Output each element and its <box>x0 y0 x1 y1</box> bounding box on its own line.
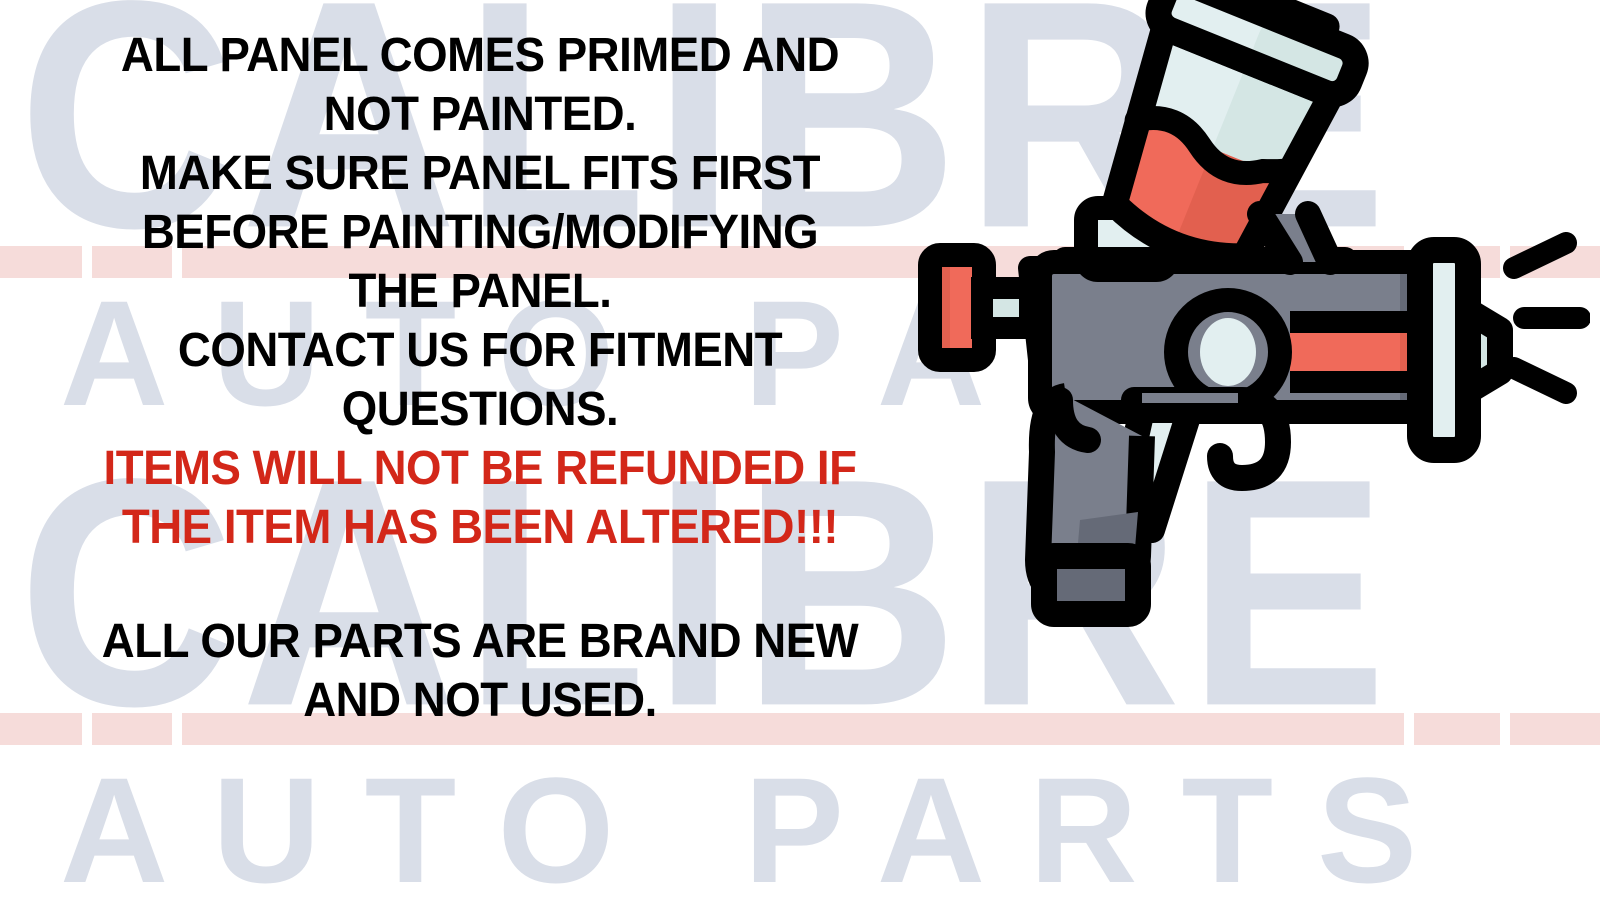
notice-warning-line-1: ITEMS WILL NOT BE REFUNDED IF <box>81 439 879 498</box>
notice-line-gap <box>81 557 879 612</box>
paint-spray-gun-icon <box>890 0 1590 660</box>
notice-warning-line-2: THE ITEM HAS BEEN ALTERED!!! <box>81 498 879 557</box>
hose-connector-icon <box>1044 556 1138 614</box>
notice-line-8: ALL OUR PARTS ARE BRAND NEW <box>81 612 879 671</box>
notice-text-block: ALL PANEL COMES PRIMED AND NOT PAINTED. … <box>81 26 879 730</box>
notice-line-7: QUESTIONS. <box>81 380 879 439</box>
spray-lines-icon <box>1514 243 1580 393</box>
notice-line-9: AND NOT USED. <box>81 671 879 730</box>
notice-line-6: CONTACT US FOR FITMENT <box>81 321 879 380</box>
notice-line-1: ALL PANEL COMES PRIMED AND <box>81 26 879 85</box>
rear-knob-icon <box>930 255 1030 360</box>
notice-line-3: MAKE SURE PANEL FITS FIRST <box>81 144 879 203</box>
watermark-autoparts-bottom: AUTO PARTS <box>60 755 1600 900</box>
cup-stem-icon <box>1260 214 1330 262</box>
product-notice-banner: CALIBRE AUTO PARTS CALIBRE AUTO PARTS AL… <box>0 0 1600 900</box>
notice-line-5: THE PANEL. <box>81 262 879 321</box>
nozzle-icon <box>1420 250 1500 450</box>
notice-line-4: BEFORE PAINTING/MODIFYING <box>81 203 879 262</box>
notice-line-2: NOT PAINTED. <box>81 85 879 144</box>
